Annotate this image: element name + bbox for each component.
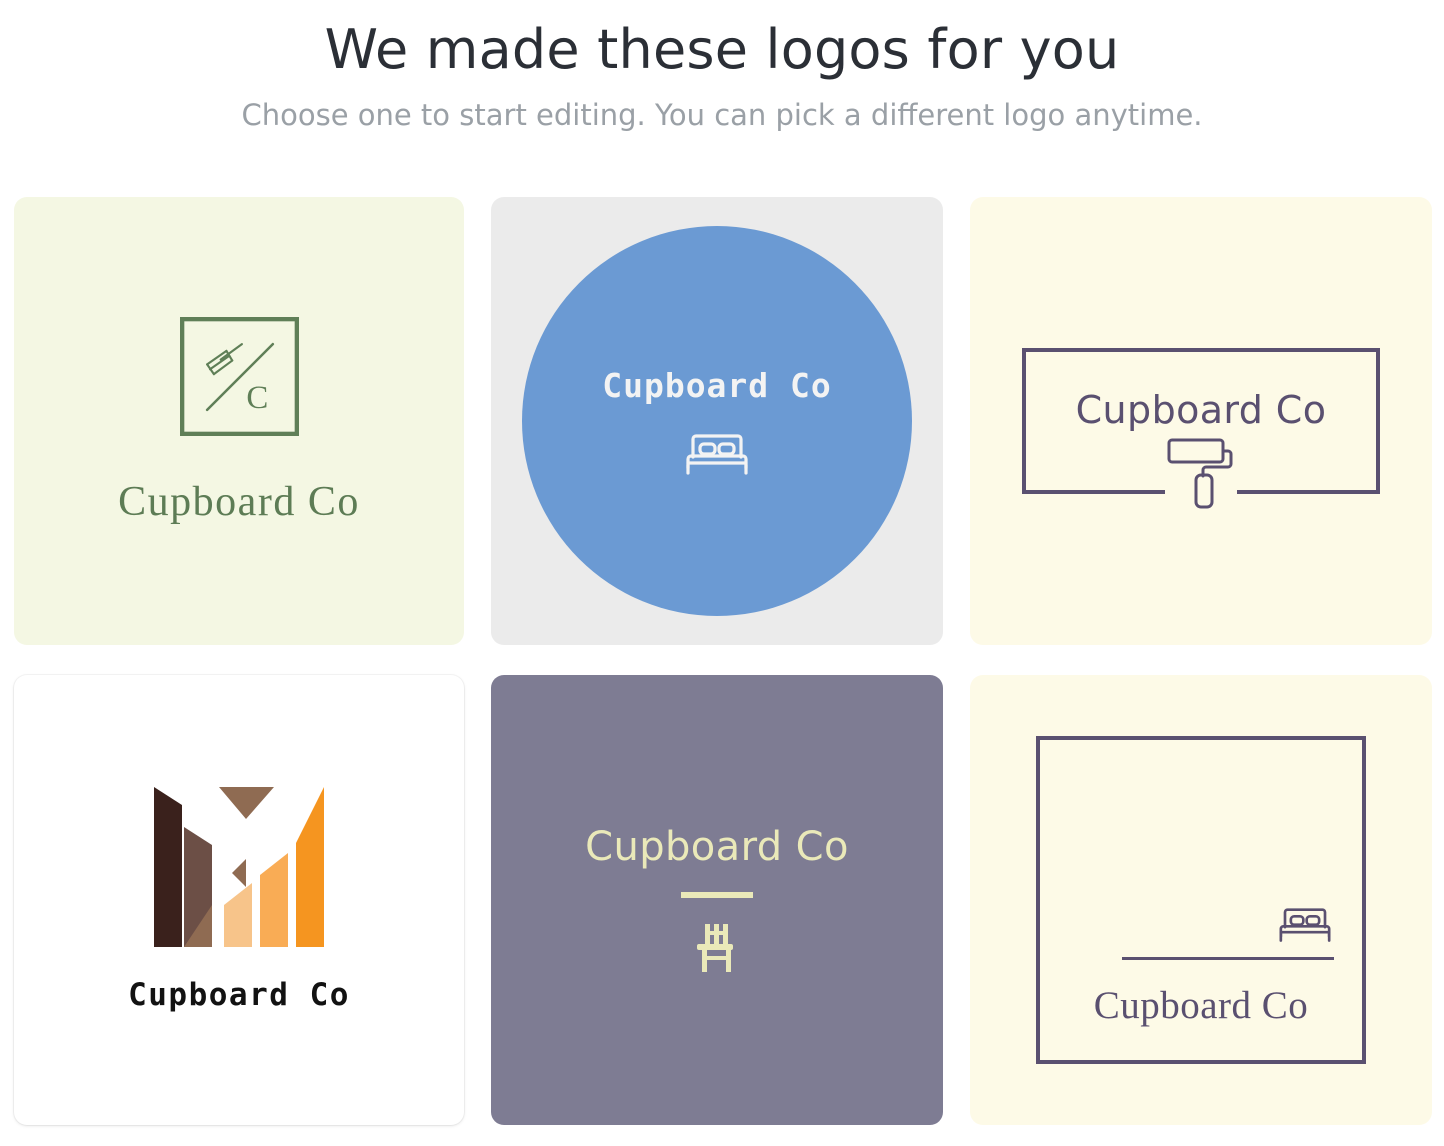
geometric-monogram-mark xyxy=(144,787,334,947)
logo-5-content: Cupboard Co xyxy=(491,675,943,1125)
logo-6-frame: Cupboard Co xyxy=(1036,736,1366,1064)
logo-option-5[interactable]: Cupboard Co xyxy=(491,675,943,1125)
logo-option-6[interactable]: Cupboard Co xyxy=(970,675,1432,1125)
paint-roller-icon xyxy=(1161,434,1241,514)
logo-4-brand-name: Cupboard Co xyxy=(128,977,350,1013)
chair-icon xyxy=(689,920,745,976)
logo-3-brand-name: Cupboard Co xyxy=(1022,388,1380,432)
logo-2-circle: Cupboard Co xyxy=(522,226,912,616)
logo-option-4[interactable]: Cupboard Co xyxy=(14,675,464,1125)
logo-4-content: Cupboard Co xyxy=(14,675,464,1125)
logo-1-content: C Cupboard Co xyxy=(14,197,464,645)
logo-picker-page: We made these logos for you Choose one t… xyxy=(0,0,1444,1146)
frame-bottom-right-edge xyxy=(1237,490,1380,494)
logo-6-divider xyxy=(1122,957,1334,960)
frame-bottom-left-edge xyxy=(1022,490,1165,494)
logo-5-brand-name: Cupboard Co xyxy=(585,824,849,870)
page-subtitle: Choose one to start editing. You can pic… xyxy=(0,98,1444,133)
logo-2-brand-name: Cupboard Co xyxy=(602,366,832,405)
bed-icon xyxy=(681,427,753,477)
page-header: We made these logos for you Choose one t… xyxy=(0,0,1444,133)
bed-icon xyxy=(1275,902,1335,944)
logo-option-2[interactable]: Cupboard Co xyxy=(491,197,943,645)
frame-top-edge xyxy=(1022,348,1380,352)
rake-and-letter-c-in-square-icon: C xyxy=(180,317,299,436)
logo-3-frame: Cupboard Co xyxy=(1022,348,1380,494)
logo-option-3[interactable]: Cupboard Co xyxy=(970,197,1432,645)
page-title: We made these logos for you xyxy=(0,18,1444,82)
logo-1-brand-name: Cupboard Co xyxy=(118,478,360,526)
logo-6-brand-name: Cupboard Co xyxy=(1040,983,1362,1028)
logo-option-1[interactable]: C Cupboard Co xyxy=(14,197,464,645)
logo-5-divider xyxy=(681,892,753,898)
svg-text:C: C xyxy=(246,379,268,415)
logo-grid: C Cupboard Co Cupboard Co xyxy=(14,197,1430,1125)
